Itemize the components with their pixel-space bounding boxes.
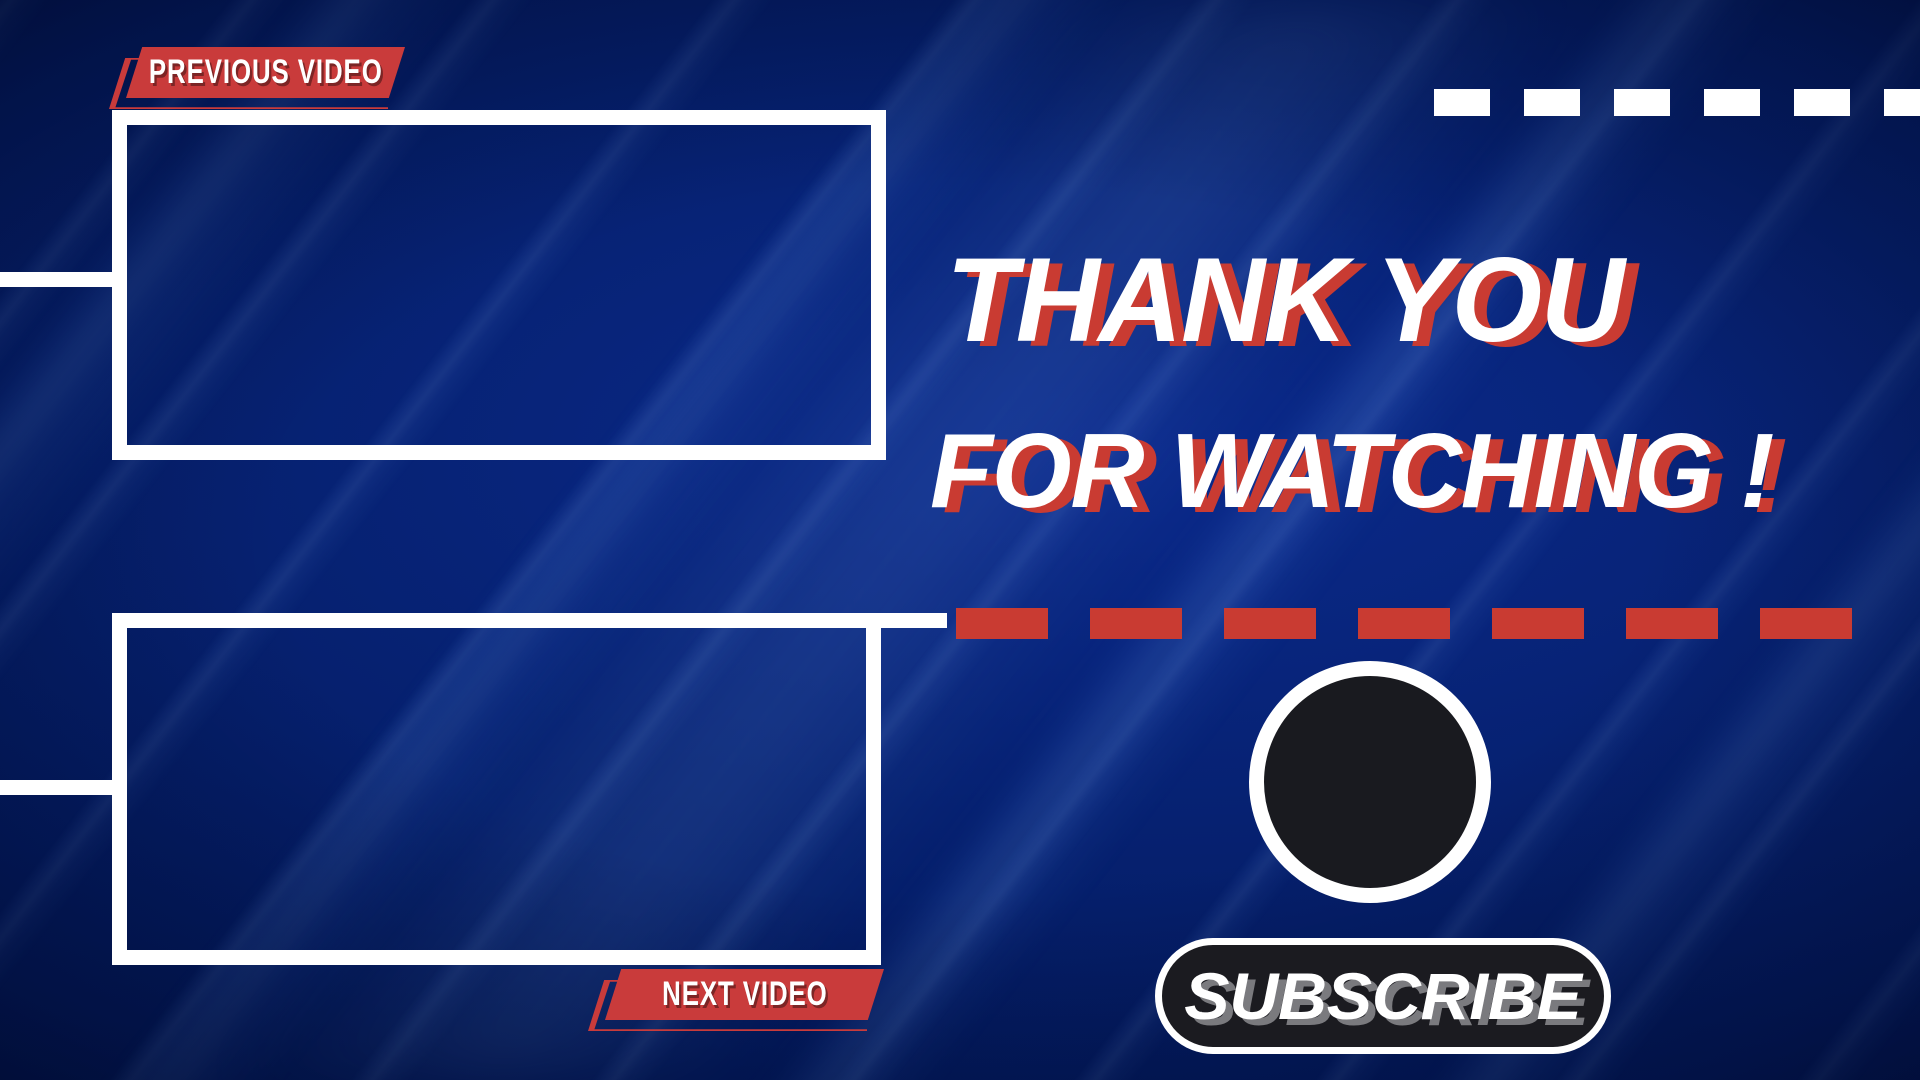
next-video-left-connector bbox=[0, 780, 112, 795]
previous-video-tab[interactable]: PREVIOUS VIDEO bbox=[126, 47, 405, 98]
dash-segment bbox=[1358, 608, 1450, 639]
end-screen-canvas: PREVIOUS VIDEO NEXT VIDEO THANK YOU FOR … bbox=[0, 0, 1920, 1080]
dash-segment bbox=[1434, 89, 1490, 116]
white-dashed-line bbox=[1434, 89, 1920, 116]
previous-video-tab-label: PREVIOUS VIDEO bbox=[149, 53, 383, 92]
red-dashed-line bbox=[956, 608, 1920, 639]
previous-video-left-connector bbox=[0, 272, 112, 287]
previous-video-thumbnail-slot[interactable] bbox=[112, 110, 886, 460]
dash-segment bbox=[1704, 89, 1760, 116]
subscribe-button-label: SUBSCRIBE bbox=[1184, 958, 1581, 1034]
thank-you-headline: THANK YOU FOR WATCHING ! bbox=[930, 240, 1830, 524]
dash-segment bbox=[956, 608, 1048, 639]
headline-line-1: THANK YOU bbox=[946, 240, 1803, 360]
next-video-tab[interactable]: NEXT VIDEO bbox=[605, 969, 884, 1020]
dash-segment bbox=[1760, 608, 1852, 639]
headline-line-2: FOR WATCHING ! bbox=[930, 418, 1803, 524]
subscribe-button[interactable]: SUBSCRIBE bbox=[1155, 938, 1611, 1054]
dash-segment bbox=[1626, 608, 1718, 639]
channel-avatar[interactable] bbox=[1249, 661, 1491, 903]
next-video-thumbnail-slot[interactable] bbox=[112, 613, 881, 965]
dash-segment bbox=[1524, 89, 1580, 116]
dash-segment bbox=[1614, 89, 1670, 116]
dash-segment bbox=[1090, 608, 1182, 639]
next-video-tab-label: NEXT VIDEO bbox=[662, 975, 828, 1014]
next-video-right-connector bbox=[881, 613, 947, 628]
dash-segment bbox=[1884, 89, 1920, 116]
dash-segment bbox=[1794, 89, 1850, 116]
dash-segment bbox=[1492, 608, 1584, 639]
dash-segment bbox=[1224, 608, 1316, 639]
